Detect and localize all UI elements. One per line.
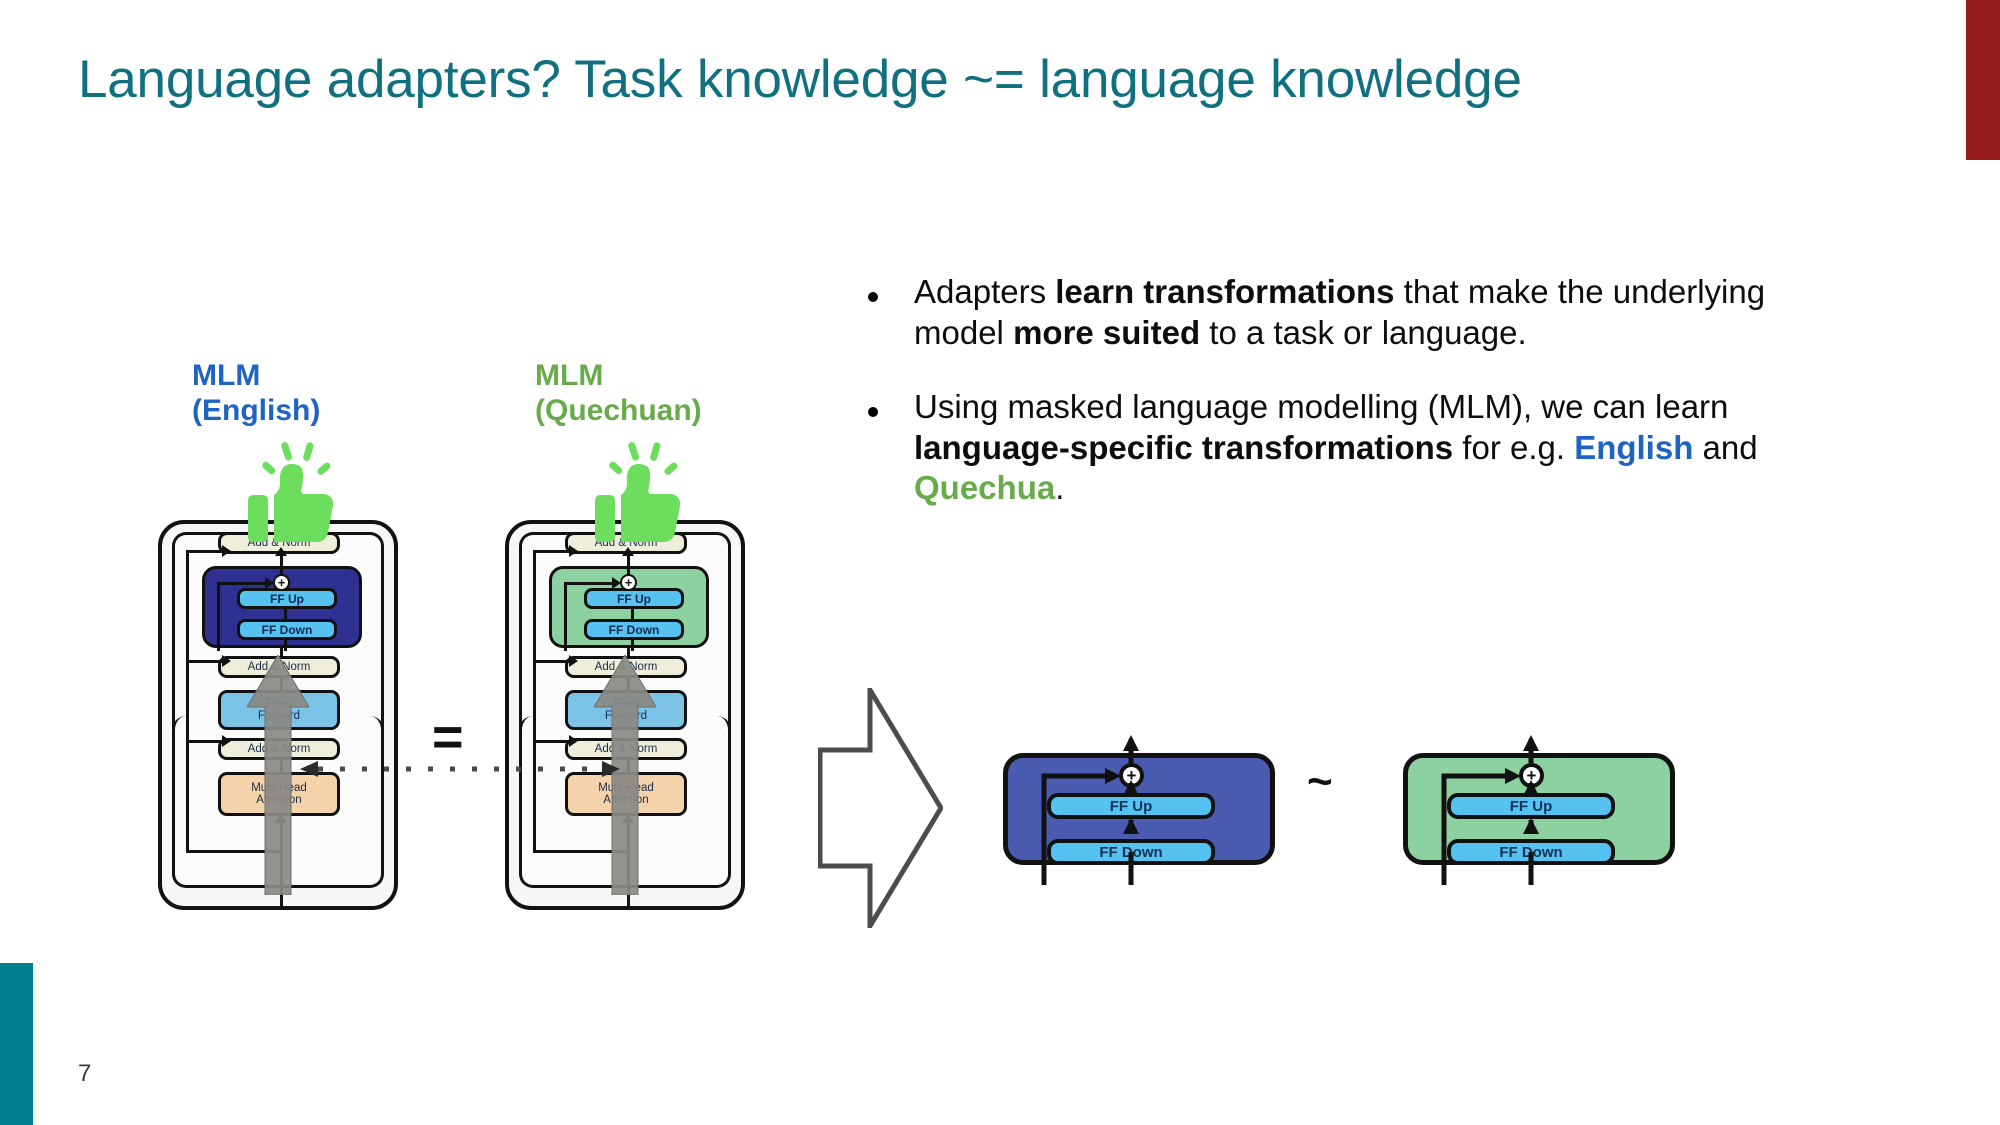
page-title: Language adapters? Task knowledge ~= lan…	[78, 50, 1838, 111]
implies-block-arrow-icon	[818, 688, 943, 928]
arrow-head-icon	[622, 547, 634, 556]
skip-wire	[533, 660, 573, 663]
arrow-head-icon	[222, 735, 231, 747]
skip-wire	[533, 660, 536, 742]
top-right-red-bar	[1966, 0, 2000, 160]
adapter-wiring	[1385, 735, 1675, 895]
mlm-english-label: MLM (English)	[192, 358, 320, 428]
list-item: Adapters learn transformations that make…	[868, 272, 1868, 353]
adapter-skip-wire	[564, 582, 616, 585]
bullet-text: Adapters learn transformations that make…	[914, 272, 1844, 353]
adapter-wire	[631, 609, 634, 621]
skip-wire	[186, 740, 226, 743]
arrow-head-icon	[569, 735, 578, 747]
skip-wire	[533, 550, 573, 553]
ff-down-box: FF Down	[237, 619, 337, 640]
adapter-skip-wire	[564, 583, 567, 651]
adapter-wire	[631, 640, 634, 651]
list-item: Using masked language modelling (MLM), w…	[868, 387, 1868, 509]
skip-wire	[186, 660, 189, 742]
mlm-quechuan-line1: MLM	[535, 358, 702, 393]
arrow-head-icon	[275, 547, 287, 556]
mlm-quechuan-line2: (Quechuan)	[535, 393, 702, 428]
mlm-quechuan-label: MLM (Quechuan)	[535, 358, 702, 428]
skip-wire	[186, 550, 226, 553]
bullet-list: Adapters learn transformations that make…	[868, 272, 1868, 543]
bullet-text: Using masked language modelling (MLM), w…	[914, 387, 1844, 509]
ff-down-box: FF Down	[584, 619, 684, 640]
skip-wire	[533, 740, 573, 743]
bottom-left-teal-bar	[0, 963, 33, 1125]
adapter-wiring	[985, 735, 1275, 895]
adapter-compare-english: FF Up FF Down +	[985, 735, 1275, 870]
bullet-dot-icon	[868, 292, 878, 302]
arrow-head-icon	[569, 545, 578, 557]
residual-add-node: +	[620, 574, 637, 591]
page-number: 7	[78, 1060, 91, 1088]
adapter-compare-quechuan: FF Up FF Down +	[1385, 735, 1675, 870]
ff-up-box: FF Up	[584, 588, 684, 609]
skip-wire	[533, 740, 536, 850]
adapter-wire	[284, 640, 287, 651]
residual-add-node: +	[273, 574, 290, 591]
approx-equal-sign: ~	[1307, 760, 1333, 804]
skip-wire	[533, 552, 536, 660]
equivalence-connector	[300, 760, 620, 778]
arrow-head-icon	[569, 655, 578, 667]
adapter-wire	[284, 609, 287, 621]
skip-wire	[186, 740, 189, 850]
skip-wire	[186, 660, 226, 663]
ff-up-box: FF Up	[237, 588, 337, 609]
bullet-dot-icon	[868, 407, 878, 417]
mlm-english-line1: MLM	[192, 358, 320, 393]
arrow-head-icon	[222, 545, 231, 557]
slide-canvas: Language adapters? Task knowledge ~= lan…	[0, 0, 2000, 1125]
adapter-skip-wire	[217, 583, 220, 651]
arrow-head-icon	[222, 655, 231, 667]
equals-sign: =	[432, 710, 464, 764]
skip-wire	[186, 552, 189, 660]
adapter-skip-wire	[217, 582, 269, 585]
mlm-english-line2: (English)	[192, 393, 320, 428]
